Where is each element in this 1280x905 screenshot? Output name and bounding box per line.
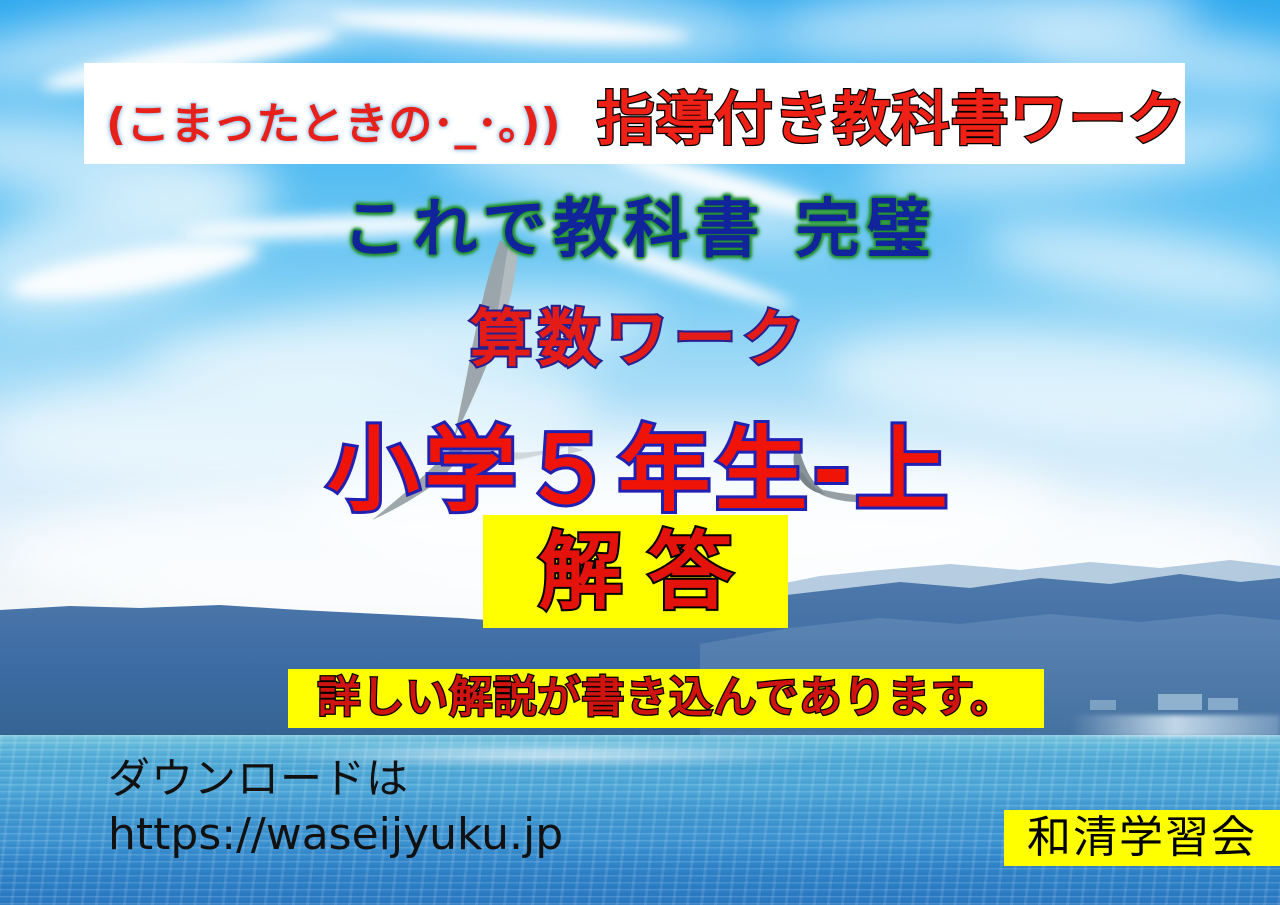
emoticon-text: (こまったときの･_･｡))	[106, 88, 561, 152]
grade-title: 小学５年生-上	[0, 396, 1280, 529]
brand-label: 和清学習会	[1027, 816, 1257, 860]
note-badge: 詳しい解説が書き込んであります。	[288, 669, 1044, 728]
cover-page: (こまったときの･_･｡)) 指導付き教科書ワーク これで教科書 完璧 算数ワー…	[0, 0, 1280, 905]
answer-badge-label: 解答	[512, 530, 758, 614]
top-banner: (こまったときの･_･｡)) 指導付き教科書ワーク	[84, 63, 1185, 164]
brand-badge: 和清学習会	[1004, 810, 1280, 866]
top-banner-line: (こまったときの･_･｡)) 指導付き教科書ワーク	[84, 72, 1185, 156]
download-url[interactable]: https://waseijyuku.jp	[108, 806, 563, 864]
download-label: ダウンロードは	[108, 752, 563, 806]
banner-title: 指導付き教科書ワーク	[597, 72, 1187, 156]
subject-title: 算数ワーク	[0, 288, 1280, 378]
download-info: ダウンロードは https://waseijyuku.jp	[108, 752, 563, 864]
far-shoreline	[1070, 715, 1280, 737]
note-badge-label: 詳しい解説が書き込んであります。	[317, 677, 1014, 720]
headline-complete: これで教科書 完璧	[0, 178, 1280, 270]
answer-badge: 解答	[483, 515, 788, 628]
